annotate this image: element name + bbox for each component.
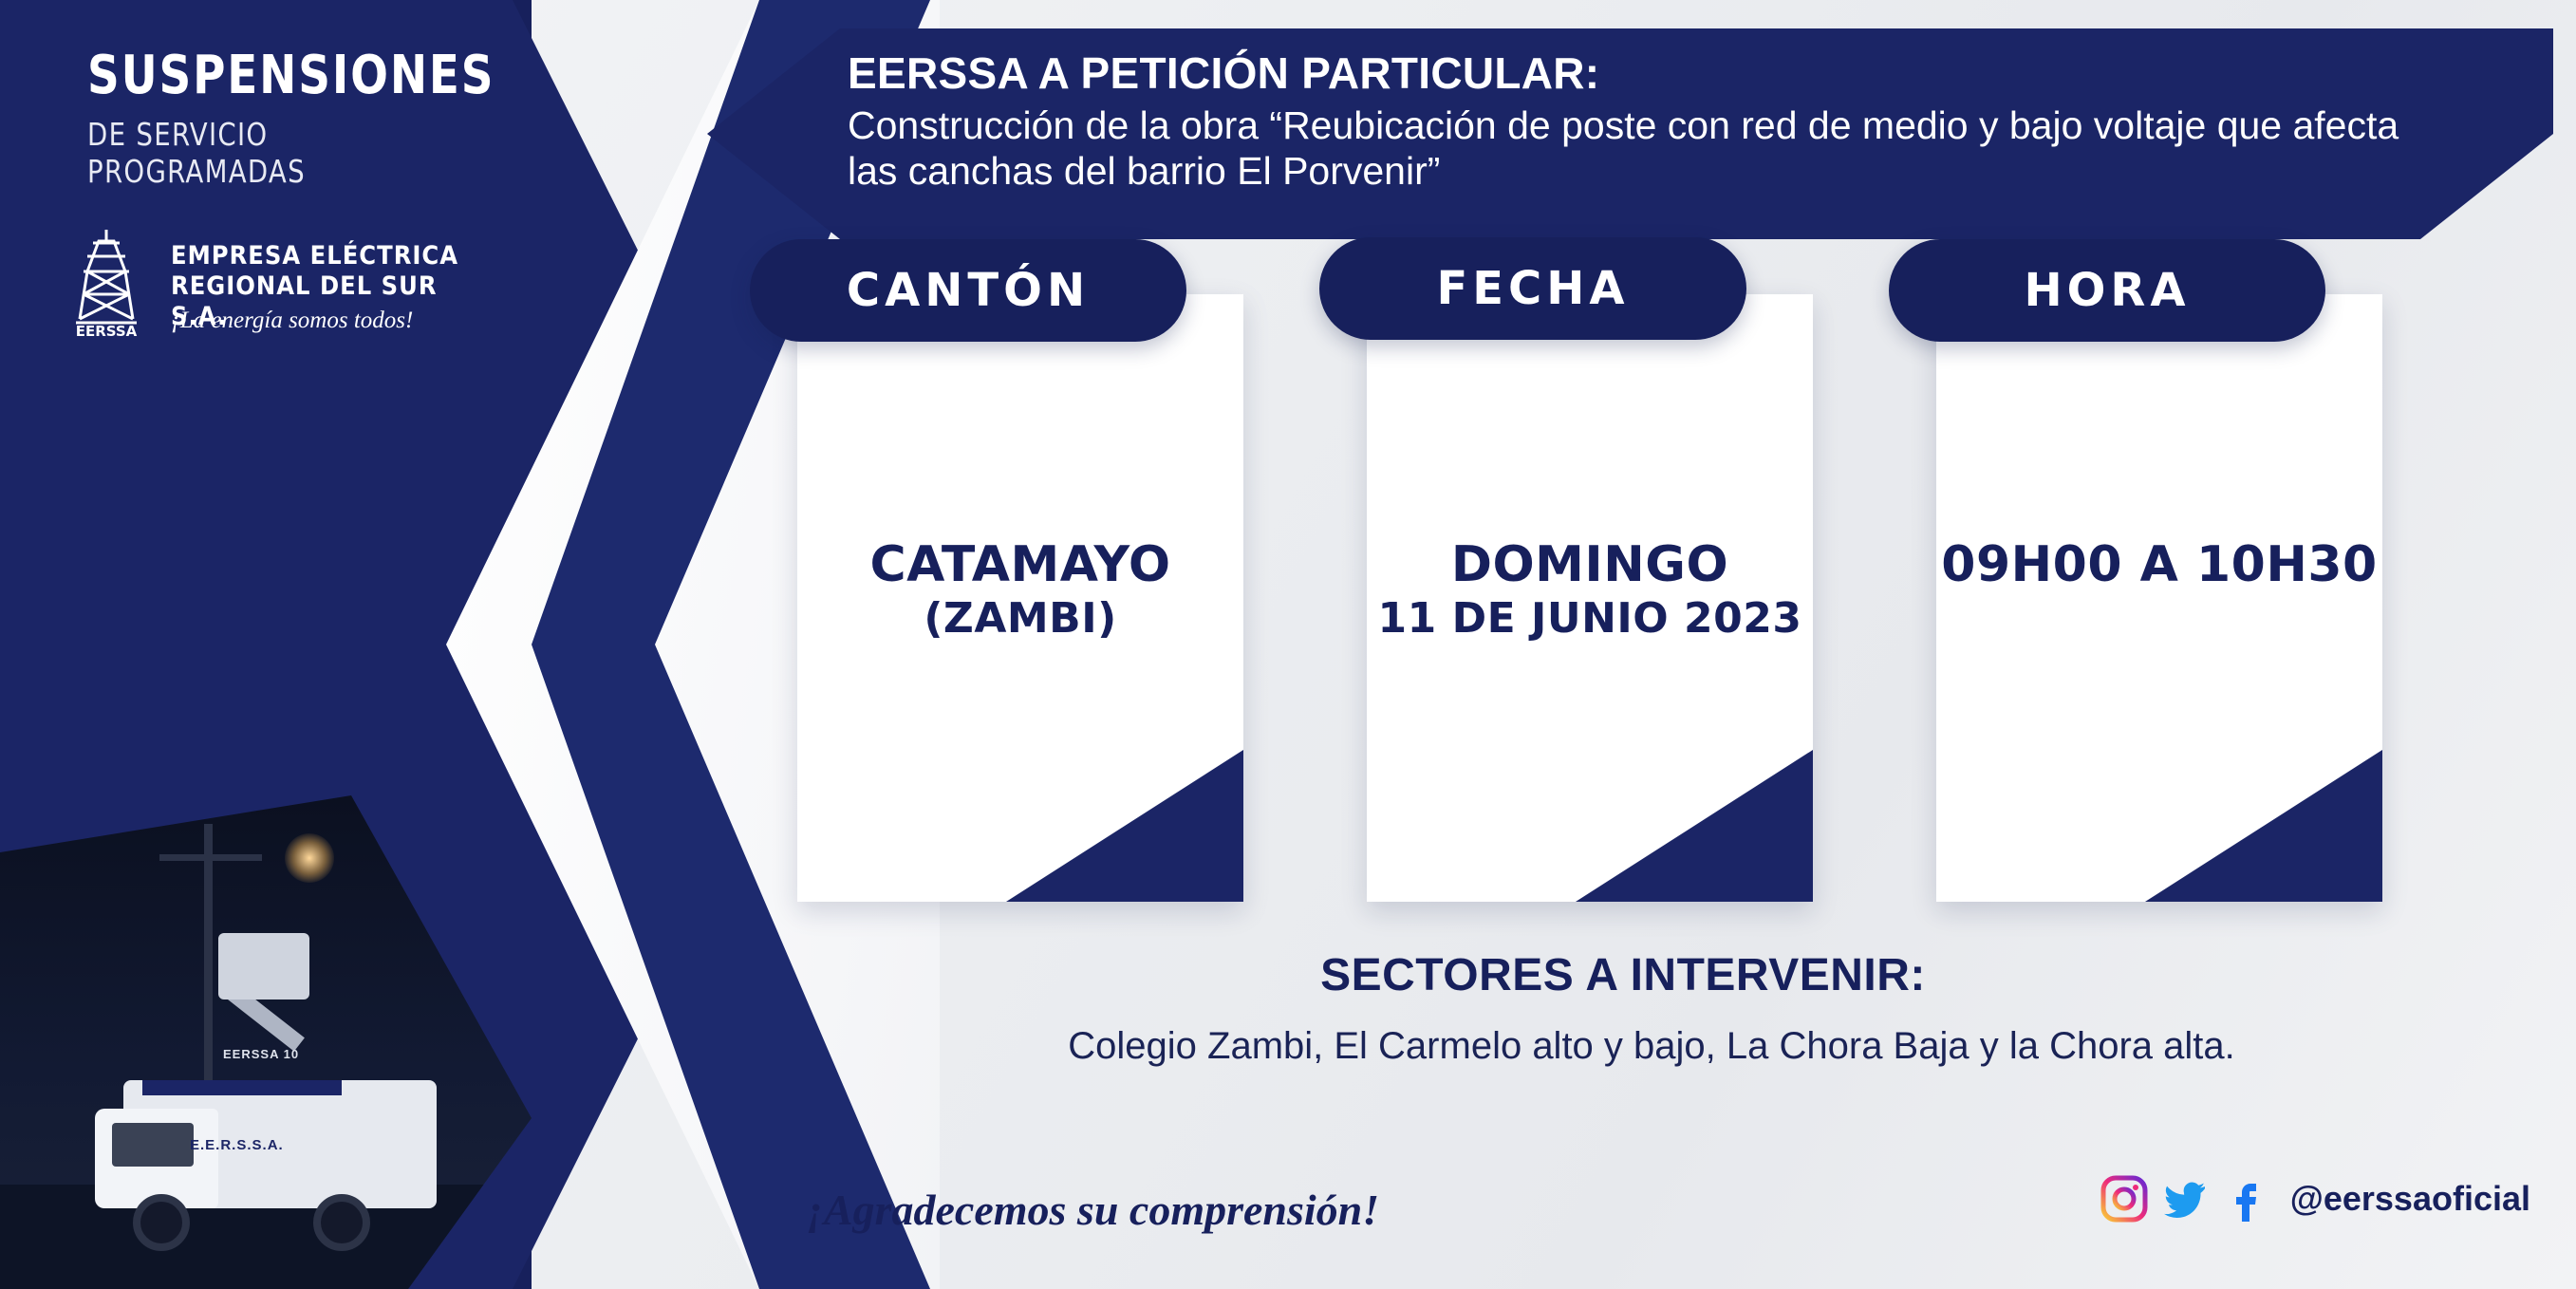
card-header-fecha: FECHA — [1319, 237, 1746, 340]
card-fold-corner — [2145, 750, 2382, 902]
thanks-message: ¡Agradecemos su comprensión! — [807, 1185, 1379, 1235]
truck-top-label: EERSSA 10 — [223, 1047, 299, 1061]
card-hora: 09H00 A 10H30 — [1936, 294, 2382, 902]
card-fecha-value-main: DOMINGO — [1451, 536, 1728, 593]
eerssa-logo: EERSSA EMPRESA ELÉCTRICA REGIONAL DEL SU… — [59, 228, 476, 370]
bucket-lift — [218, 933, 309, 999]
facebook-icon[interactable] — [2222, 1175, 2269, 1223]
sectors-title: SECTORES A INTERVENIR: — [759, 949, 2487, 1001]
truck-label: E.E.R.S.S.A. — [190, 1137, 284, 1153]
social-handle: @eerssaoficial — [2290, 1179, 2530, 1219]
card-header-canton: CANTÓN — [750, 239, 1186, 342]
street-lamp-glow — [285, 833, 334, 883]
transmission-tower-icon: EERSSA — [59, 228, 154, 342]
company-slogan: ¡La energía somos todos! — [171, 308, 413, 334]
card-fold-corner — [1576, 750, 1813, 902]
announcement-banner: EERSSA A PETICIÓN PARTICULAR: Construcci… — [707, 28, 2553, 239]
card-canton-value: CATAMAYO (ZAMBI) — [797, 536, 1243, 644]
banner-title: EERSSA A PETICIÓN PARTICULAR: — [848, 49, 2439, 99]
card-canton-value-main: CATAMAYO — [869, 536, 1170, 593]
card-hora-value: 09H00 A 10H30 — [1936, 536, 2382, 594]
social-bar: @eerssaoficial — [2100, 1175, 2530, 1223]
svg-text:EERSSA: EERSSA — [76, 323, 138, 340]
poster-canvas: SUSPENSIONES DE SERVICIO PROGRAMADAS EER… — [0, 0, 2576, 1289]
sectors-text: Colegio Zambi, El Carmelo alto y bajo, L… — [759, 1025, 2544, 1068]
card-fecha: DOMINGO 11 DE JUNIO 2023 — [1367, 294, 1813, 902]
card-fecha-value-sub: 11 DE JUNIO 2023 — [1367, 594, 1813, 644]
instagram-icon[interactable] — [2100, 1175, 2148, 1223]
card-canton-value-sub: (ZAMBI) — [797, 594, 1243, 644]
card-fold-corner — [1006, 750, 1243, 902]
banner-description: Construcción de la obra “Reubicación de … — [848, 103, 2439, 195]
company-name-line1: EMPRESA ELÉCTRICA — [171, 241, 458, 271]
poster-headline: SUSPENSIONES — [87, 49, 458, 103]
card-header-hora: HORA — [1889, 239, 2325, 342]
poster-subheadline: DE SERVICIO PROGRAMADAS — [87, 116, 494, 190]
card-canton: CATAMAYO (ZAMBI) — [797, 294, 1243, 902]
info-cards: CATAMAYO (ZAMBI) DOMINGO 11 DE JUNIO 202… — [759, 285, 2487, 892]
card-fecha-value: DOMINGO 11 DE JUNIO 2023 — [1367, 536, 1813, 644]
twitter-icon[interactable] — [2161, 1175, 2209, 1223]
card-hora-value-main: 09H00 A 10H30 — [1941, 536, 2377, 593]
